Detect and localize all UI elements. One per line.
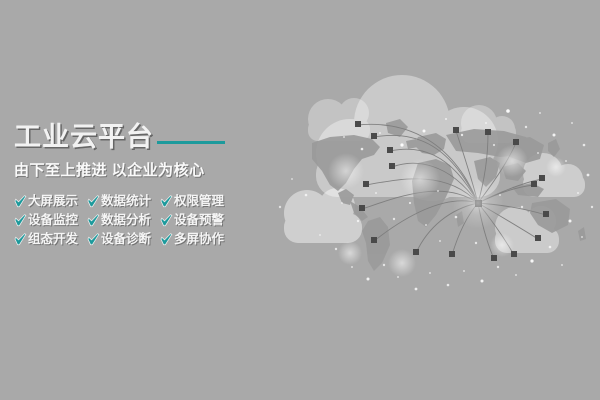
horizontal-rule-icon [157,141,225,144]
feature-item-2[interactable]: 数据统计 [87,194,151,209]
feature-item-4[interactable]: 设备监控 [14,213,78,228]
list-item-label: 设备预警 [174,213,224,228]
list-item-label: 设备诊断 [101,232,151,247]
list-item-label: 组态开发 [28,232,78,247]
check-mark-icon [14,214,27,227]
check-mark-icon [87,214,100,227]
headline-block: 工业云平台 由下至上推进 以企业为核心 大屏展示 数据统计 权限管理 设备监控 [14,120,254,247]
cloud-world-network-illustration [250,75,600,325]
page-title: 工业云平台 [14,122,154,152]
feature-item-5[interactable]: 数据分析 [87,213,151,228]
list-item-label: 数据统计 [101,194,151,209]
list-item-label: 权限管理 [174,194,224,209]
feature-item-9[interactable]: 多屏协作 [160,232,224,247]
list-item-label: 数据分析 [101,213,151,228]
check-mark-icon [87,195,100,208]
feature-item-6[interactable]: 设备预警 [160,213,224,228]
industrial-cloud-platform-banner: 工业云平台 由下至上推进 以企业为核心 大屏展示 数据统计 权限管理 设备监控 [0,0,600,400]
check-mark-icon [87,233,100,246]
check-mark-icon [14,195,27,208]
subtitle: 由下至上推进 以企业为核心 [14,161,254,180]
feature-item-7[interactable]: 组态开发 [14,232,78,247]
list-item-label: 大屏展示 [28,194,78,209]
feature-item-3[interactable]: 权限管理 [160,194,224,209]
feature-item-1[interactable]: 大屏展示 [14,194,78,209]
check-mark-icon [14,233,27,246]
check-mark-icon [160,233,173,246]
title-row: 工业云平台 [14,120,254,154]
check-mark-icon [160,195,173,208]
list-item-label: 多屏协作 [174,232,224,247]
check-mark-icon [160,214,173,227]
list-item-label: 设备监控 [28,213,78,228]
feature-item-8[interactable]: 设备诊断 [87,232,151,247]
feature-list: 大屏展示 数据统计 权限管理 设备监控 数据分析 [14,194,254,247]
